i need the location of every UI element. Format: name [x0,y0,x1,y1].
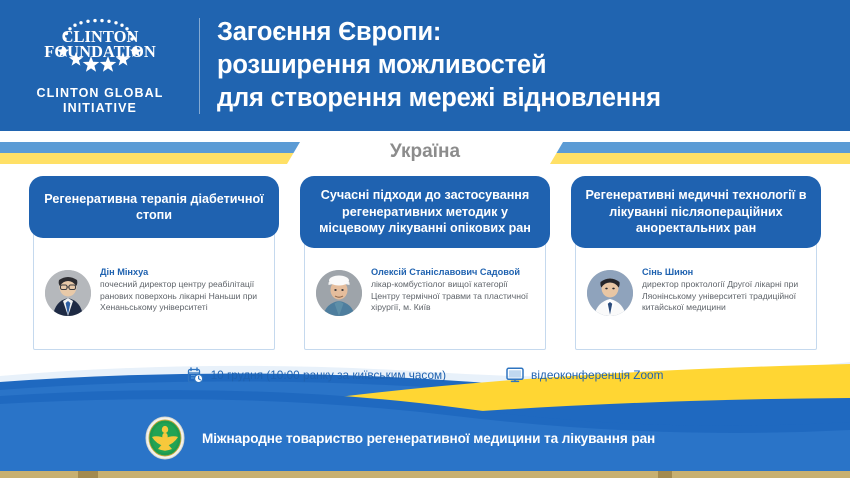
poster-title: Загоєння Європи: розширення можливостей … [200,16,850,115]
cgi-line-2: INITIATIVE [37,101,164,116]
clinton-foundation-logo-block: CLINTON FOUNDATION CLINTON GLOBAL INITIA… [0,0,200,131]
speaker-info: Олексій Станіславович Садовой лікар-комб… [371,266,536,316]
speaker-role: лікар-комбустіолог вищої категорії Центр… [371,279,536,314]
event-platform-item: відеоконференція Zoom [506,367,663,383]
speaker-avatar-sadovoy [316,270,362,316]
calendar-clock-icon [187,367,204,384]
speaker-info: Сінь Шиюн директор проктології Другої лі… [642,266,807,316]
event-date-item: 10 грудня (10:00 ранку за київським часо… [187,367,446,384]
poster-canvas: CLINTON FOUNDATION CLINTON GLOBAL INITIA… [0,0,850,478]
speaker-info: Дін Мінхуа почесний директор центру реаб… [100,266,265,316]
society-footer: Міжнародне товариство регенеративної мед… [0,412,850,464]
event-date-text: 10 грудня (10:00 ранку за київським часо… [211,368,446,382]
poster-header: CLINTON FOUNDATION CLINTON GLOBAL INITIA… [0,0,850,131]
clinton-global-initiative-label: CLINTON GLOBAL INITIATIVE [37,86,164,116]
strip-segment [0,471,78,478]
event-info-row: 10 грудня (10:00 ранку за київським часо… [0,360,850,390]
speaker-avatar-xin-shiyun [587,270,633,316]
country-banner: Україна [0,131,850,177]
title-line-2: розширення можливостей [217,49,840,82]
session-card: Регенеративні медичні технології в лікув… [571,176,821,350]
strip-segment [98,471,658,478]
strip-segment [672,471,850,478]
event-platform-text: відеоконференція Zoom [531,368,663,382]
title-line-1: Загоєння Європи: [217,16,840,49]
speaker-role: директор проктології Другої лікарні при … [642,279,807,314]
session-card-title: Регенеративна терапія діабетичної стопи [29,176,279,238]
speaker-role: почесний директор центру реабілітації ра… [100,279,265,314]
title-line-3: для створення мережі відновлення [217,82,840,115]
session-cards: Регенеративна терапія діабетичної стопи [0,176,850,356]
cgi-line-1: CLINTON GLOBAL [37,86,164,101]
society-emblem-logo-icon [144,415,186,461]
country-label: Україна [0,137,850,167]
society-name: Міжнародне товариство регенеративної мед… [202,431,655,446]
session-card-speaker: Олексій Станіславович Садовой лікар-комб… [316,266,536,316]
speaker-name: Сінь Шиюн [642,266,807,278]
session-card-title: Сучасні підходи до застосування регенера… [300,176,550,248]
monitor-icon [506,367,524,383]
speaker-avatar-din-minhua [45,270,91,316]
session-card-speaker: Дін Мінхуа почесний директор центру реаб… [45,266,265,316]
session-card: Регенеративна терапія діабетичної стопи [29,176,279,350]
speaker-name: Дін Мінхуа [100,266,265,278]
speaker-name: Олексій Станіславович Садовой [371,266,536,278]
bottom-accent-strip [0,471,850,478]
clinton-foundation-logo-line2: FOUNDATION [44,42,156,61]
session-card-speaker: Сінь Шиюн директор проктології Другої лі… [587,266,807,316]
clinton-foundation-logo-icon: CLINTON FOUNDATION [35,15,165,77]
session-card-title: Регенеративні медичні технології в лікув… [571,176,821,248]
header-divider [199,18,200,114]
session-card: Сучасні підходи до застосування регенера… [300,176,550,350]
